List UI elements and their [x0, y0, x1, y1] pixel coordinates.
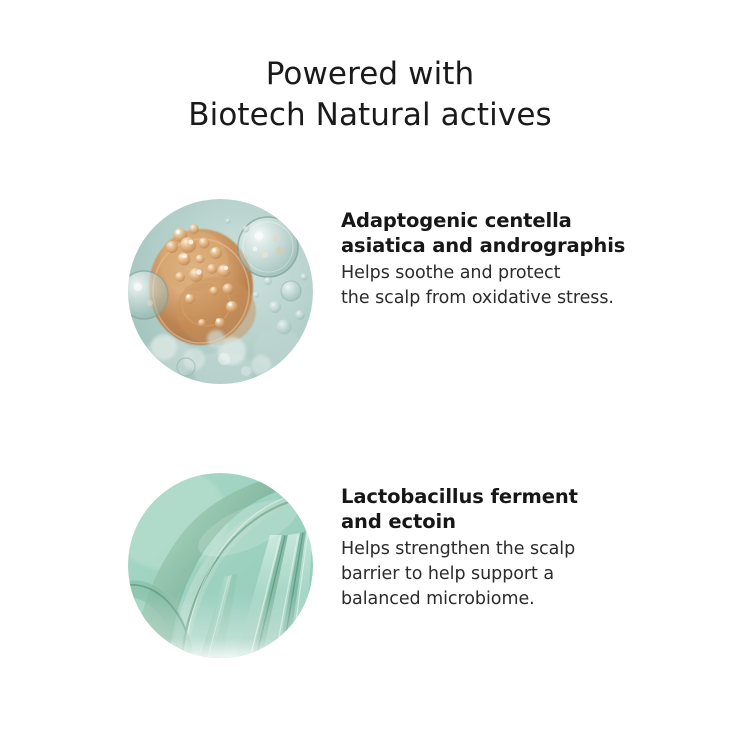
feature-title-line-2: asiatica and andrographis [341, 234, 661, 259]
feature-description-line-1: Helps strengthen the scalp [341, 537, 661, 562]
feature-description-line-1: Helps soothe and protect [341, 261, 661, 286]
feature-title-line-1: Adaptogenic centella [341, 209, 661, 234]
page-title: Powered with Biotech Natural actives [0, 54, 740, 136]
feature-copy-adaptogenic-centella: Adaptogenic centella asiatica and androg… [341, 209, 661, 311]
mint-green-ribbon-texture-photo [128, 473, 313, 658]
feature-description-line-3: balanced microbiome. [341, 587, 661, 612]
infographic-page: Powered with Biotech Natural actives [0, 0, 740, 740]
feature-description-line-2: barrier to help support a [341, 562, 661, 587]
feature-copy-lactobacillus-ferment: Lactobacillus ferment and ectoin Helps s… [341, 485, 661, 611]
feature-title-line-2: and ectoin [341, 510, 661, 535]
page-title-line-2: Biotech Natural actives [0, 95, 740, 136]
feature-description: Helps soothe and protect the scalp from … [341, 261, 661, 311]
feature-description: Helps strengthen the scalp barrier to he… [341, 537, 661, 612]
feature-title: Adaptogenic centella asiatica and androg… [341, 209, 661, 259]
feature-title-line-1: Lactobacillus ferment [341, 485, 661, 510]
serum-bubbles-macro-photo [128, 199, 313, 384]
feature-title: Lactobacillus ferment and ectoin [341, 485, 661, 535]
page-title-line-1: Powered with [0, 54, 740, 95]
feature-description-line-2: the scalp from oxidative stress. [341, 286, 661, 311]
